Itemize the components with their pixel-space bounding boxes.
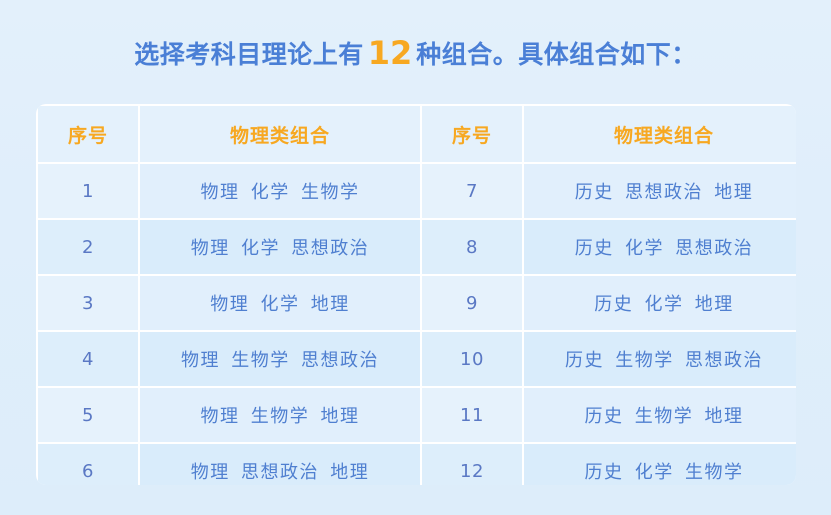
cell-combination: 物理 化学 思想政治 bbox=[140, 220, 420, 274]
cell-index: 10 bbox=[422, 332, 522, 386]
subject-combination-table: 序号 物理类组合 序号 物理类组合 1 物理 化学 生物学 bbox=[36, 104, 796, 485]
index-value: 5 bbox=[82, 405, 94, 426]
header-cell-left-index: 序号 bbox=[38, 106, 138, 162]
table-row: 4 物理 生物学 思想政治 10 历史 生物学 思想政治 bbox=[38, 332, 796, 386]
cell-index: 9 bbox=[422, 276, 522, 330]
combination-value: 物理 化学 生物学 bbox=[201, 182, 360, 203]
combination-value: 物理 生物学 地理 bbox=[201, 406, 360, 427]
table-row: 1 物理 化学 生物学 7 历史 思想政治 地理 bbox=[38, 164, 796, 218]
index-value: 10 bbox=[460, 349, 484, 370]
combination-value: 历史 生物学 思想政治 bbox=[565, 350, 763, 371]
header-cell-right-index: 序号 bbox=[422, 106, 522, 162]
index-value: 2 bbox=[82, 237, 94, 258]
table-row: 5 物理 生物学 地理 11 历史 生物学 地理 bbox=[38, 388, 796, 442]
page-title: 选择考科目理论上有12种组合。具体组合如下： bbox=[0, 34, 831, 72]
title-suffix: 种组合。具体组合如下： bbox=[416, 40, 697, 69]
combination-value: 物理 化学 思想政治 bbox=[191, 238, 369, 259]
cell-combination: 历史 生物学 地理 bbox=[524, 388, 796, 442]
cell-combination: 历史 化学 生物学 bbox=[524, 444, 796, 485]
index-value: 7 bbox=[466, 181, 478, 202]
table-body: 1 物理 化学 生物学 7 历史 思想政治 地理 2 物理 化学 思想政治 8 … bbox=[38, 164, 796, 485]
table-row: 6 物理 思想政治 地理 12 历史 化学 生物学 bbox=[38, 444, 796, 485]
index-value: 12 bbox=[460, 461, 484, 482]
cell-combination: 历史 生物学 思想政治 bbox=[524, 332, 796, 386]
combination-value: 物理 生物学 思想政治 bbox=[181, 350, 379, 371]
cell-index: 4 bbox=[38, 332, 138, 386]
title-prefix: 选择考科目理论上有 bbox=[134, 40, 364, 69]
combination-value: 历史 化学 生物学 bbox=[585, 462, 744, 483]
cell-index: 8 bbox=[422, 220, 522, 274]
cell-combination: 历史 化学 地理 bbox=[524, 276, 796, 330]
combination-value: 物理 化学 地理 bbox=[210, 294, 349, 315]
cell-index: 3 bbox=[38, 276, 138, 330]
header-label-left-index: 序号 bbox=[68, 125, 108, 147]
title-count-highlight: 12 bbox=[364, 34, 417, 72]
cell-combination: 历史 化学 思想政治 bbox=[524, 220, 796, 274]
index-value: 11 bbox=[460, 405, 484, 426]
index-value: 4 bbox=[82, 349, 94, 370]
combination-value: 历史 思想政治 地理 bbox=[575, 182, 753, 203]
cell-index: 7 bbox=[422, 164, 522, 218]
header-label-left-combo: 物理类组合 bbox=[230, 125, 330, 147]
cell-index: 5 bbox=[38, 388, 138, 442]
page-root: 选择考科目理论上有12种组合。具体组合如下： 序号 物理类组合 bbox=[0, 0, 831, 515]
combination-value: 历史 生物学 地理 bbox=[585, 406, 744, 427]
cell-combination: 物理 思想政治 地理 bbox=[140, 444, 420, 485]
cell-index: 1 bbox=[38, 164, 138, 218]
cell-combination: 物理 化学 生物学 bbox=[140, 164, 420, 218]
combination-value: 物理 思想政治 地理 bbox=[191, 462, 369, 483]
header-label-right-combo: 物理类组合 bbox=[614, 125, 714, 147]
table-header-row: 序号 物理类组合 序号 物理类组合 bbox=[38, 106, 796, 162]
index-value: 8 bbox=[466, 237, 478, 258]
cell-combination: 历史 思想政治 地理 bbox=[524, 164, 796, 218]
index-value: 1 bbox=[82, 181, 94, 202]
table-row: 2 物理 化学 思想政治 8 历史 化学 思想政治 bbox=[38, 220, 796, 274]
cell-index: 11 bbox=[422, 388, 522, 442]
cell-combination: 物理 化学 地理 bbox=[140, 276, 420, 330]
table-row: 3 物理 化学 地理 9 历史 化学 地理 bbox=[38, 276, 796, 330]
index-value: 6 bbox=[82, 461, 94, 482]
header-label-right-index: 序号 bbox=[452, 125, 492, 147]
cell-combination: 物理 生物学 思想政治 bbox=[140, 332, 420, 386]
cell-index: 6 bbox=[38, 444, 138, 485]
combination-value: 历史 化学 地理 bbox=[594, 294, 733, 315]
table-header: 序号 物理类组合 序号 物理类组合 bbox=[38, 106, 796, 162]
combination-grid: 序号 物理类组合 序号 物理类组合 1 物理 化学 生物学 bbox=[36, 104, 796, 485]
index-value: 9 bbox=[466, 293, 478, 314]
combination-value: 历史 化学 思想政治 bbox=[575, 238, 753, 259]
index-value: 3 bbox=[82, 293, 94, 314]
header-cell-right-combo: 物理类组合 bbox=[524, 106, 796, 162]
cell-index: 12 bbox=[422, 444, 522, 485]
cell-combination: 物理 生物学 地理 bbox=[140, 388, 420, 442]
cell-index: 2 bbox=[38, 220, 138, 274]
header-cell-left-combo: 物理类组合 bbox=[140, 106, 420, 162]
